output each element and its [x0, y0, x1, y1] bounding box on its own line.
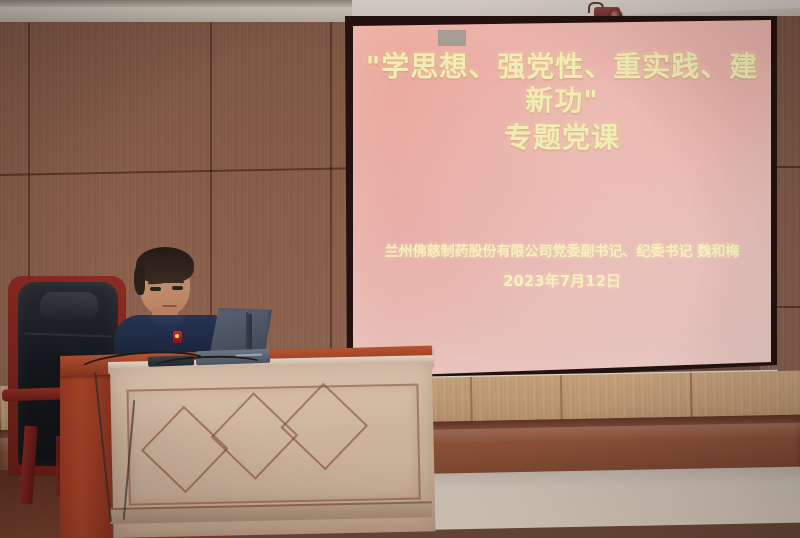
speaker-eye — [172, 286, 183, 290]
lectern — [60, 356, 432, 538]
wall-seam — [0, 167, 372, 176]
slide-subtitle-block: 兰州佛慈制药股份有限公司党委副书记、纪委书记 魏和梅 2023年7月12日 — [353, 240, 771, 298]
slide-title-line1: "学思想、强党性、重实践、建新功" — [353, 50, 771, 118]
speaker-hair-side — [134, 265, 145, 295]
slide-presenter: 兰州佛慈制药股份有限公司党委副书记、纪委书记 魏和梅 — [353, 240, 771, 264]
slide-date: 2023年7月12日 — [353, 264, 771, 298]
speaker-eye — [150, 287, 161, 291]
chair-headrest — [40, 292, 98, 320]
badge-emblem-dot — [175, 334, 179, 338]
slide-title: "学思想、强党性、重实践、建新功" 专题党课 — [353, 50, 771, 158]
screen-mount-tab-icon — [438, 30, 466, 46]
slide-title-line2: 专题党课 — [353, 118, 771, 158]
auditorium-photo: "学思想、强党性、重实践、建新功" 专题党课 兰州佛慈制药股份有限公司党委副书记… — [0, 0, 800, 538]
